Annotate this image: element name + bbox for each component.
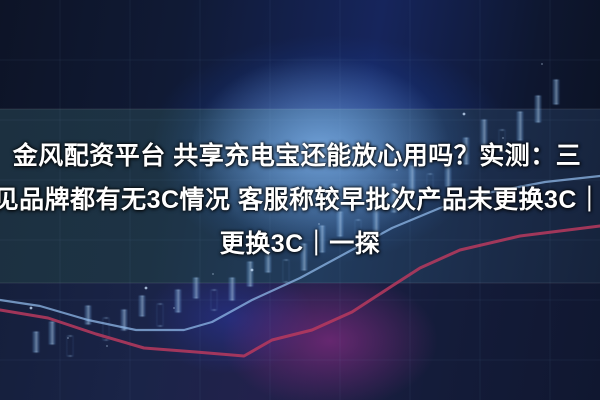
- trend-line-red: [0, 226, 600, 356]
- news-thumbnail-image: 金风配资平台 共享充电宝还能放心用吗？实测：三 见品牌都有无3C情况 客服称较早…: [0, 0, 600, 400]
- center-glow: [190, 55, 450, 245]
- candlestick-chart-graphic: [0, 0, 600, 400]
